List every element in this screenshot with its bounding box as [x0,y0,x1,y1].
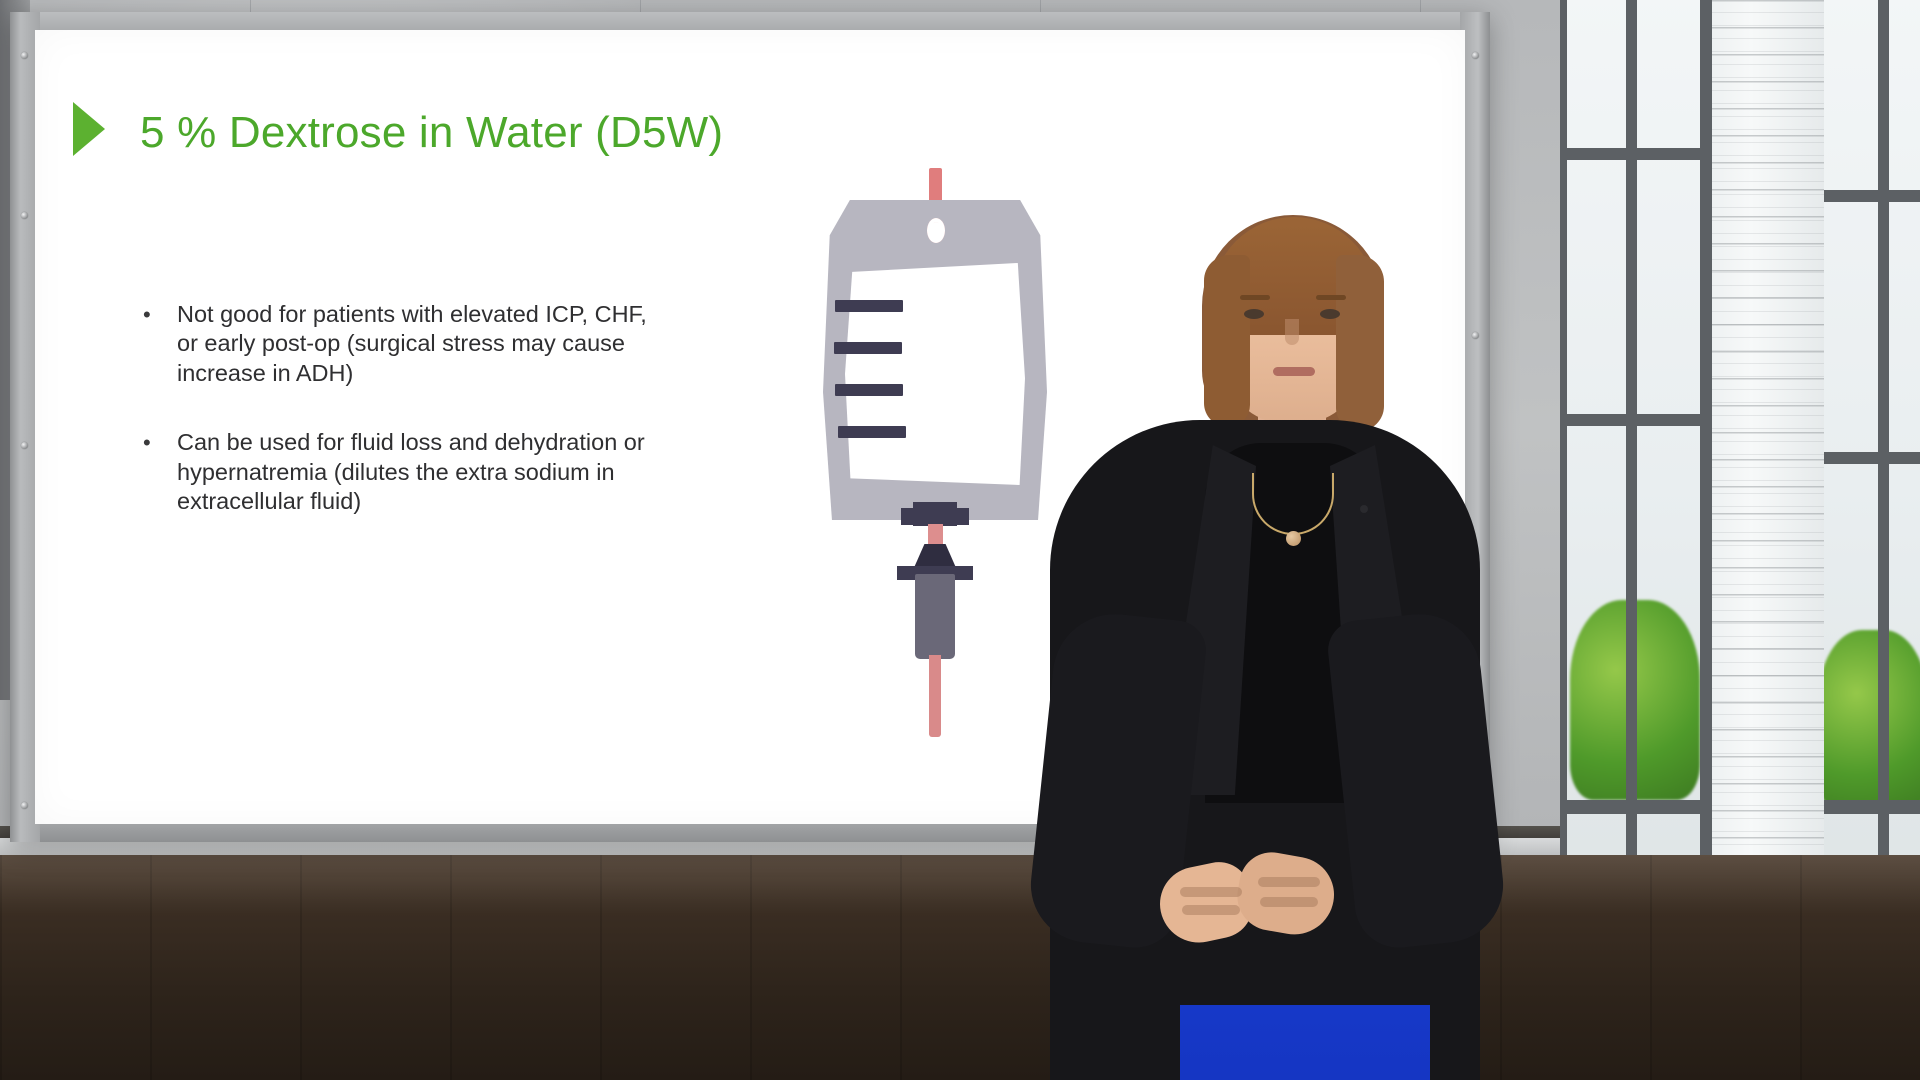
bezel-screw [21,212,28,219]
presenter-eye-left [1244,309,1264,319]
presenter-eye-right [1320,309,1340,319]
iv-port-flange-icon [901,508,969,525]
brick-column [1712,0,1824,880]
bullet-text: Can be used for fluid loss and dehydrati… [177,428,655,516]
bullet-marker-icon: • [135,300,177,388]
lapel-microphone-icon [1360,505,1368,513]
window-mullion [1560,0,1567,880]
presenter-finger [1258,877,1320,887]
iv-graduation-mark [834,342,902,354]
window-mullion [1626,0,1637,880]
presenter-eyebrow-left [1240,295,1270,300]
bezel-screw [21,52,28,59]
slide-title: 5 % Dextrose in Water (D5W) [140,108,723,158]
presenter-finger [1182,905,1240,915]
iv-graduation-mark [835,384,903,396]
bezel-screw [1472,52,1479,59]
video-frame: 5 % Dextrose in Water (D5W) • Not good f… [0,0,1920,1080]
presenter-finger [1180,887,1242,897]
presenter-eyebrow-right [1316,295,1346,300]
greenery [1818,630,1920,810]
presenter-hair-left [1204,255,1250,427]
window-transom [1560,148,1714,160]
bullet-list: • Not good for patients with elevated IC… [135,300,655,556]
iv-drip-chamber-icon [915,574,955,659]
triangle-arrow-icon [73,102,105,156]
iv-hanger-hole-center [930,222,942,240]
presenter-pendant [1286,531,1301,546]
iv-bag-fluid-window [845,263,1025,485]
studio-windows [1560,0,1920,880]
list-item: • Can be used for fluid loss and dehydra… [135,428,655,516]
iv-bag-illustration [805,150,1065,650]
presenter-mouth [1273,367,1315,376]
presenter-hair-right [1336,255,1384,431]
wood-floor [0,855,1920,1080]
list-item: • Not good for patients with elevated IC… [135,300,655,388]
presenter-figure [1030,215,1500,1080]
iv-tube-lower [929,655,941,737]
iv-graduation-mark [838,426,906,438]
presenter-skirt [1180,1005,1430,1080]
presenter-finger [1260,897,1318,907]
bullet-text: Not good for patients with elevated ICP,… [177,300,655,388]
iv-graduation-mark [835,300,903,312]
window-mullion [1878,0,1889,880]
bezel-screw [21,442,28,449]
floor-reflection [0,855,1920,915]
bezel-screw [21,802,28,809]
bullet-marker-icon: • [135,428,177,516]
window-transom [1560,414,1714,426]
presenter-nose [1285,319,1299,345]
